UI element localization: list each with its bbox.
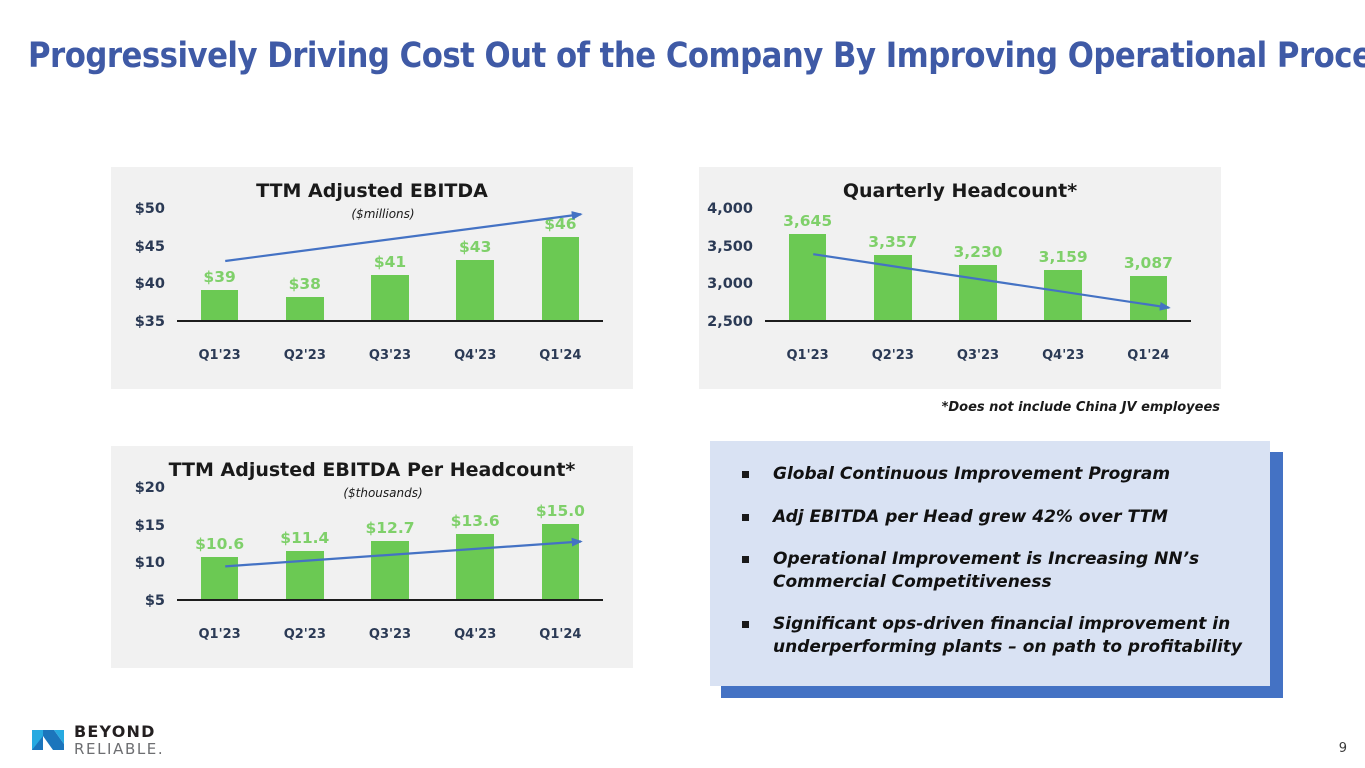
bar [456,260,493,320]
headcount-footnote: *Does not include China JV employees [760,400,1220,415]
square-bullet-icon [742,556,749,563]
bar-value-label: 3,357 [868,233,917,251]
square-bullet-icon [742,471,749,478]
x-axis-tick-label: Q4'23 [454,348,496,363]
bar [456,534,493,599]
y-axis-tick-label: 2,500 [707,314,753,330]
y-axis-tick-label: $20 [135,480,165,496]
x-axis-tick-label: Q2'23 [872,348,914,363]
square-bullet-icon [742,621,749,628]
bar [371,275,408,320]
y-axis-tick-label: $5 [145,593,165,609]
y-axis-tick-label: 4,000 [707,201,753,217]
x-axis-tick-label: Q3'23 [957,348,999,363]
x-axis-line [177,599,603,601]
x-axis-line [765,320,1191,322]
bar [542,524,579,599]
company-logo: BEYOND RELIABLE. [30,722,164,758]
list-item-label: Operational Improvement is Increasing NN… [773,548,1244,593]
x-axis-tick-label: Q1'23 [199,627,241,642]
x-axis-tick-label: Q2'23 [284,348,326,363]
logo-line-beyond: BEYOND [74,724,164,740]
bar-value-label: $43 [459,238,491,256]
bar-value-label: 3,087 [1124,254,1173,272]
bar-value-label: $38 [289,275,321,293]
bar [371,541,408,599]
bar [959,265,996,320]
chart-title: Quarterly Headcount* [699,180,1221,202]
x-axis-tick-label: Q4'23 [454,627,496,642]
bar [286,297,323,320]
logo-line-reliable: RELIABLE. [74,742,164,757]
x-axis-tick-label: Q2'23 [284,627,326,642]
x-axis-tick-label: Q1'24 [539,348,581,363]
square-bullet-icon [742,514,749,521]
chart-ttm-adjusted-ebitda-per-headcount: TTM Adjusted EBITDA Per Headcount* ($tho… [111,446,633,668]
plot-area: $35$40$45$50$39Q1'23$38Q2'23$41Q3'23$43Q… [177,209,603,322]
bar-value-label: $13.6 [451,512,500,530]
plot-area: 2,5003,0003,5004,0003,645Q1'233,357Q2'23… [765,209,1191,322]
bar-value-label: $12.7 [365,519,414,537]
bar-value-label: 3,159 [1039,248,1088,266]
y-axis-tick-label: $35 [135,314,165,330]
bar [1130,276,1167,320]
bar [874,255,911,320]
bar-value-label: $11.4 [280,529,329,547]
list-item-label: Significant ops-driven financial improve… [773,613,1244,658]
bar [286,551,323,599]
list-item: Adj EBITDA per Head grew 42% over TTM [734,506,1244,529]
y-axis-tick-label: $10 [135,555,165,571]
bar-value-label: 3,645 [783,212,832,230]
page-number: 9 [1339,741,1347,756]
y-axis-tick-label: $40 [135,276,165,292]
beyond-reliable-logo-icon [30,722,66,758]
chart-quarterly-headcount: Quarterly Headcount* 2,5003,0003,5004,00… [699,167,1221,389]
bar [201,290,238,320]
y-axis-tick-label: $15 [135,518,165,534]
x-axis-tick-label: Q1'23 [787,348,829,363]
bar-value-label: $10.6 [195,535,244,553]
x-axis-tick-label: Q4'23 [1042,348,1084,363]
logo-wordmark: BEYOND RELIABLE. [74,724,164,757]
y-axis-tick-label: $45 [135,239,165,255]
x-axis-tick-label: Q3'23 [369,627,411,642]
bar [542,237,579,320]
list-item-label: Adj EBITDA per Head grew 42% over TTM [773,506,1168,529]
bar-value-label: 3,230 [953,243,1002,261]
chart-title: TTM Adjusted EBITDA Per Headcount* [111,459,633,481]
bar-value-label: $46 [544,215,576,233]
x-axis-line [177,320,603,322]
list-item-label: Global Continuous Improvement Program [773,463,1170,486]
x-axis-tick-label: Q1'23 [199,348,241,363]
bullets-panel: Global Continuous Improvement Program Ad… [710,441,1270,686]
x-axis-tick-label: Q3'23 [369,348,411,363]
y-axis-tick-label: $50 [135,201,165,217]
chart-title: TTM Adjusted EBITDA [111,180,633,202]
list-item: Global Continuous Improvement Program [734,463,1244,486]
bar-value-label: $15.0 [536,502,585,520]
bar [789,234,826,320]
bar-value-label: $39 [203,268,235,286]
page-title: Progressively Driving Cost Out of the Co… [28,36,1172,76]
bar-value-label: $41 [374,253,406,271]
chart-ttm-adjusted-ebitda: TTM Adjusted EBITDA ($millions) $35$40$4… [111,167,633,389]
x-axis-tick-label: Q1'24 [539,627,581,642]
x-axis-tick-label: Q1'24 [1127,348,1169,363]
y-axis-tick-label: 3,000 [707,276,753,292]
list-item: Operational Improvement is Increasing NN… [734,548,1244,593]
bar [1044,270,1081,320]
list-item: Significant ops-driven financial improve… [734,613,1244,658]
plot-area: $5$10$15$20$10.6Q1'23$11.4Q2'23$12.7Q3'2… [177,488,603,601]
bar [201,557,238,599]
y-axis-tick-label: 3,500 [707,239,753,255]
